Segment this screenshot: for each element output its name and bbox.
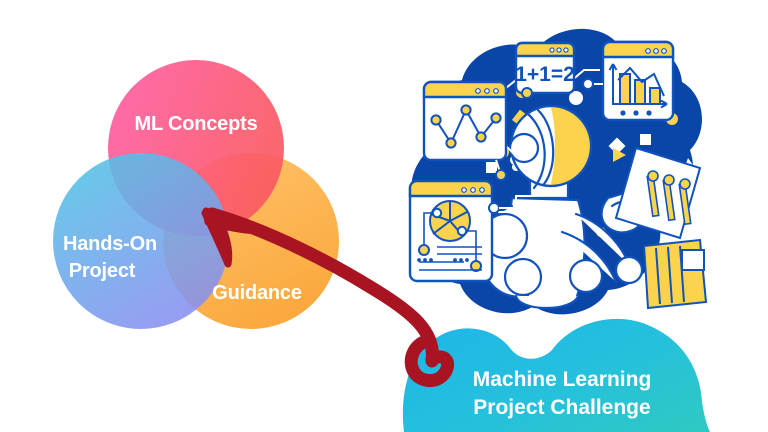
poster-canvas: 1+1=2 [0,0,768,432]
curved-pointer-arrow [0,0,768,432]
